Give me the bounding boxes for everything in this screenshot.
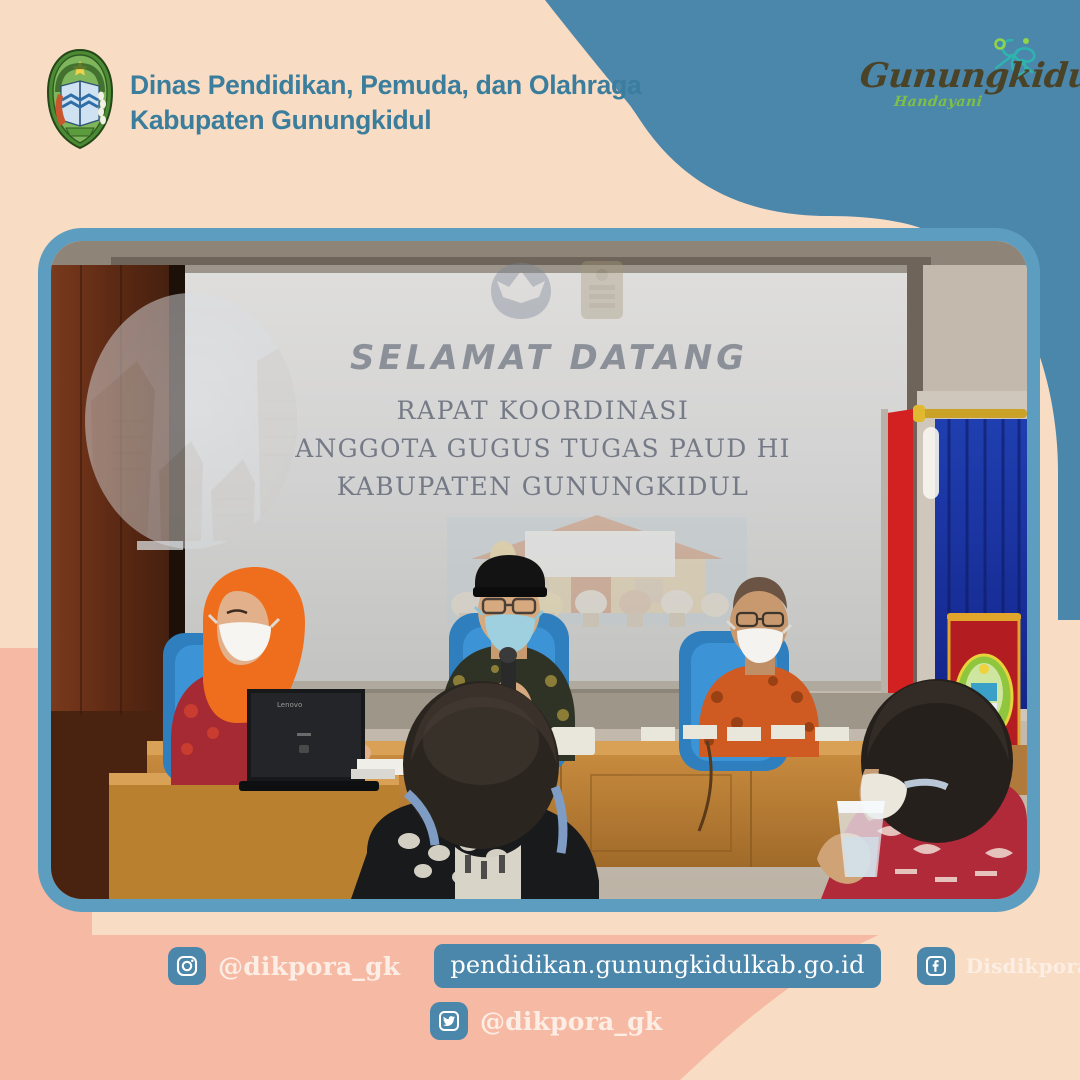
instagram-icon[interactable] [168, 947, 206, 985]
meeting-photo: SELAMAT DATANG RAPAT KOORDINASI ANGGOTA … [51, 241, 1027, 899]
instagram-handle[interactable]: @dikpora_gk [218, 952, 400, 981]
svg-text:ANGGOTA GUGUS TUGAS PAUD HI: ANGGOTA GUGUS TUGAS PAUD HI [294, 434, 790, 463]
brand-tagline: Handayani [893, 94, 983, 110]
gunungkidul-brand-logo: Gunungkidul Handayani [848, 26, 1058, 131]
svg-text:SELAMAT DATANG: SELAMAT DATANG [350, 338, 748, 378]
website-url-pill[interactable]: pendidikan.gunungkidulkab.go.id [434, 944, 880, 988]
gunungkidul-regency-emblem [44, 48, 116, 150]
poster-header: Dinas Pendidikan, Pemuda, dan Olahraga K… [0, 0, 1080, 200]
facebook-page-name[interactable]: Disdikpora Gunungkidul [966, 954, 1080, 978]
title-line-2: Kabupaten Gunungkidul [130, 103, 641, 138]
twitter-icon[interactable] [430, 1002, 468, 1040]
brand-wordmark: Gunungkidul [858, 56, 1080, 96]
plastic-cup [837, 801, 885, 877]
facebook-group: Disdikpora Gunungkidul [917, 947, 1080, 985]
poster-footer: @dikpora_gk pendidikan.gunungkidulkab.go… [0, 930, 1080, 1080]
poster-canvas: Dinas Pendidikan, Pemuda, dan Olahraga K… [0, 0, 1080, 1080]
svg-text:RAPAT KOORDINASI: RAPAT KOORDINASI [397, 396, 690, 425]
footer-row-primary: @dikpora_gk pendidikan.gunungkidulkab.go… [168, 944, 1080, 988]
svg-text:Lenovo: Lenovo [277, 701, 302, 709]
footer-row-twitter: @dikpora_gk [430, 1002, 662, 1040]
title-line-1: Dinas Pendidikan, Pemuda, dan Olahraga [130, 70, 641, 100]
twitter-handle[interactable]: @dikpora_gk [480, 1007, 662, 1036]
page-title: Dinas Pendidikan, Pemuda, dan Olahraga K… [130, 68, 641, 138]
svg-text:KABUPATEN GUNUNGKIDUL: KABUPATEN GUNUNGKIDUL [337, 472, 750, 501]
facebook-icon[interactable] [917, 947, 955, 985]
photo-frame: SELAMAT DATANG RAPAT KOORDINASI ANGGOTA … [38, 228, 1040, 912]
